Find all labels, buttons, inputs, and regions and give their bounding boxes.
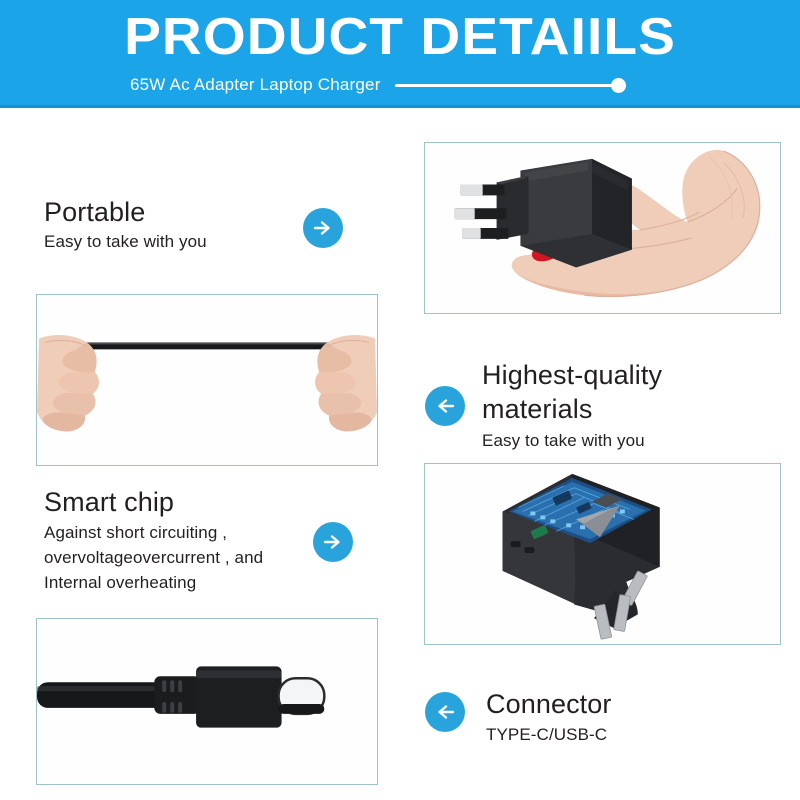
header-subtitle: 65W Ac Adapter Laptop Charger: [130, 75, 381, 95]
feature-connector-title: Connector: [486, 688, 736, 721]
arrow-left-glyph: [433, 394, 457, 418]
feature-smart-chip-subtitle: Against short circuiting , overvoltageov…: [44, 520, 334, 595]
header-subtitle-row: 65W Ac Adapter Laptop Charger: [0, 70, 800, 100]
feature-smart-chip-title: Smart chip: [44, 486, 334, 519]
feature-smart-chip: Smart chip Against short circuiting , ov…: [44, 486, 334, 595]
arrow-left-icon[interactable]: [425, 692, 465, 732]
arrow-right-icon[interactable]: [303, 208, 343, 248]
feature-portable-title: Portable: [44, 196, 294, 229]
feature-materials-title-line-1: Highest-quality: [482, 358, 732, 392]
arrow-right-icon[interactable]: [313, 522, 353, 562]
photo-cable-stretch: [36, 294, 378, 466]
feature-portable: Portable Easy to take with you: [44, 196, 294, 254]
arrow-right-glyph: [311, 216, 335, 240]
feature-connector: Connector TYPE-C/USB-C: [486, 688, 736, 747]
strain-relief: [154, 676, 200, 714]
cable: [37, 682, 166, 708]
header-banner: PRODUCT DETAIILS 65W Ac Adapter Laptop C…: [0, 0, 800, 108]
arrow-right-glyph: [321, 530, 345, 554]
photo-circuit-board: [424, 463, 781, 645]
usbc-plug-tip: [279, 678, 325, 714]
arrow-left-icon[interactable]: [425, 386, 465, 426]
feature-connector-subtitle: TYPE-C/USB-C: [486, 722, 736, 747]
photo-hand-holding-charger: [424, 142, 781, 314]
header-divider-line: [395, 84, 613, 87]
connector-housing: [196, 666, 281, 727]
feature-materials-subtitle: Easy to take with you: [482, 428, 732, 453]
infographic-page: PRODUCT DETAIILS 65W Ac Adapter Laptop C…: [0, 0, 800, 800]
feature-highest-quality-materials: Highest-quality materials Easy to take w…: [482, 358, 732, 453]
circuit-board-illustration: [425, 464, 780, 644]
arrow-left-glyph: [433, 700, 457, 724]
hand-holding-charger-illustration: [425, 143, 780, 313]
feature-portable-subtitle: Easy to take with you: [44, 229, 294, 254]
plug-prongs: [455, 185, 509, 239]
feature-materials-title-line-2: materials: [482, 392, 732, 426]
header-accent-dot: [611, 78, 626, 93]
page-title: PRODUCT DETAIILS: [0, 6, 800, 68]
cable-stretch-illustration: [37, 295, 377, 465]
usbc-connector-illustration: [37, 619, 377, 784]
photo-usbc-connector: [36, 618, 378, 785]
